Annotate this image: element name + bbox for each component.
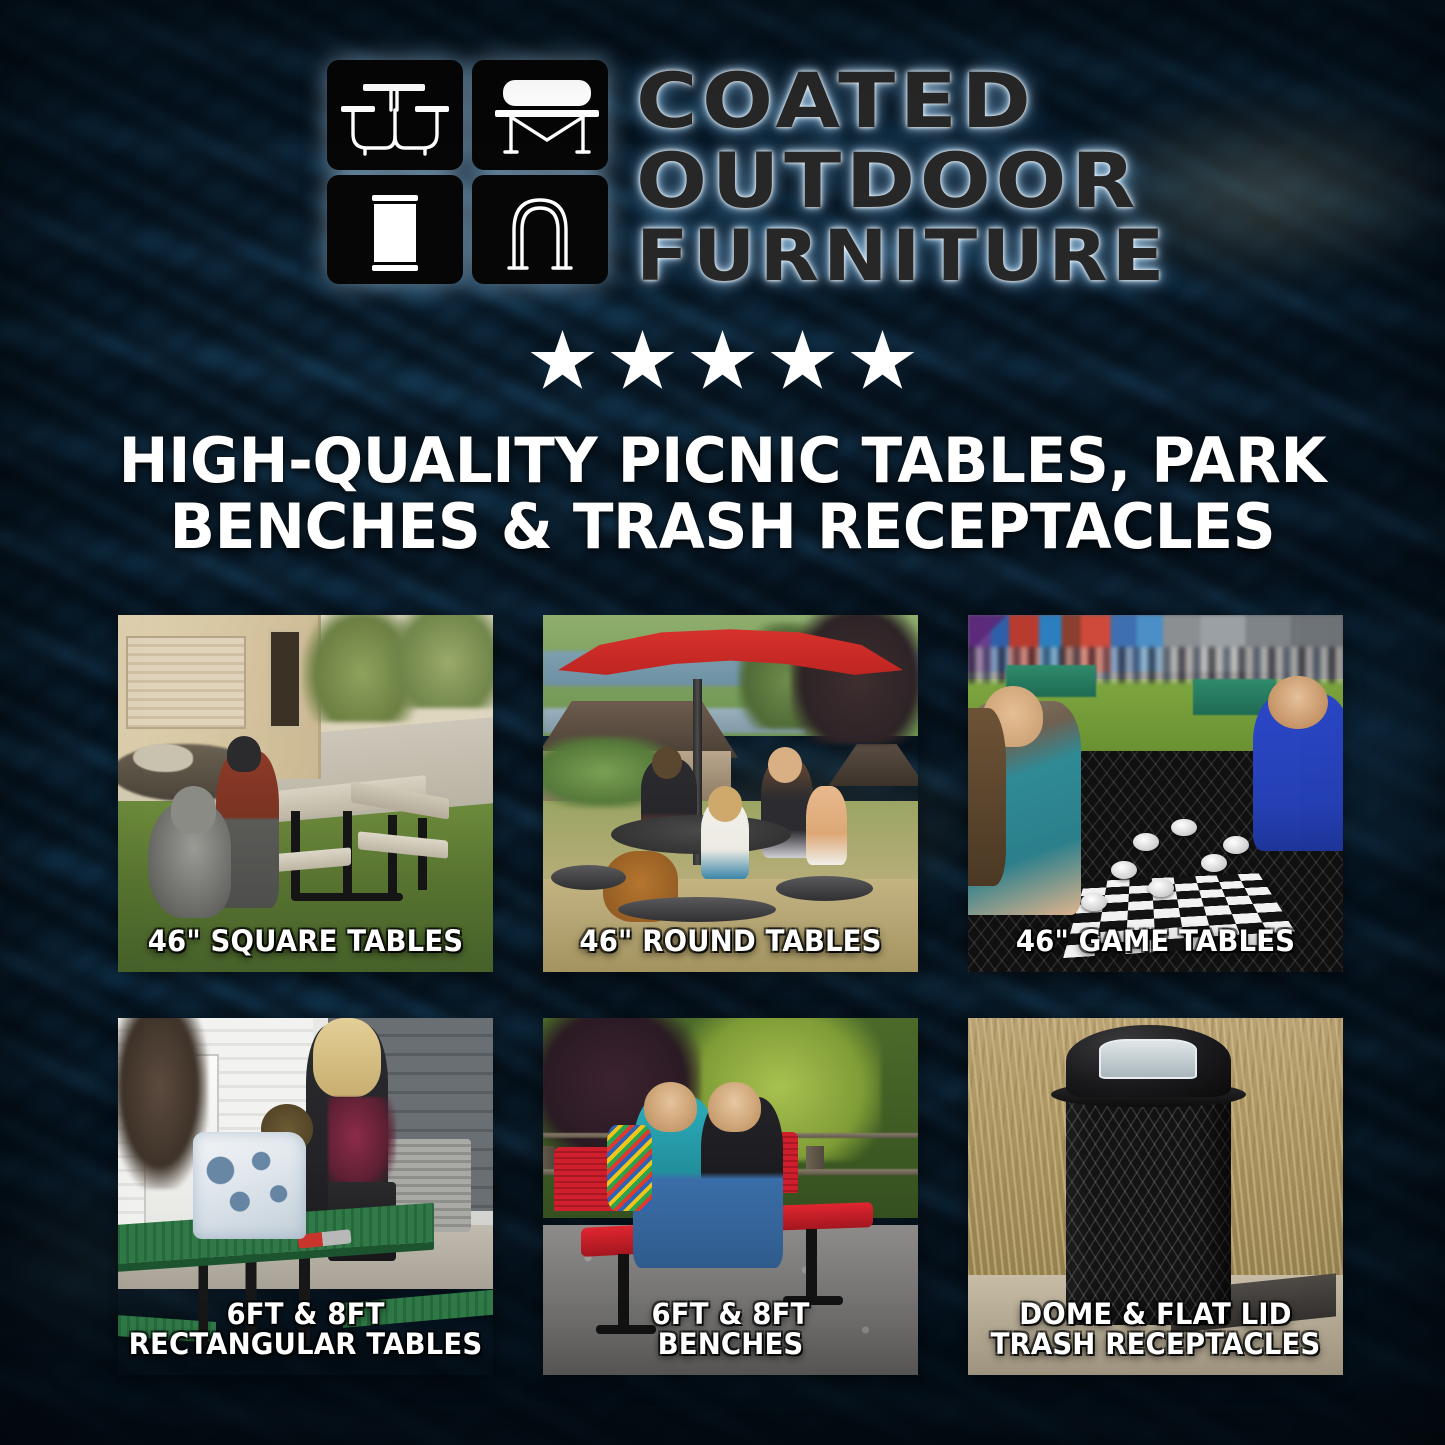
star-icon <box>531 330 595 392</box>
product-tile-trash-receptacles[interactable]: DOME & FLAT LID TRASH RECEPTACLES <box>968 1018 1343 1375</box>
caption-line-2: TRASH RECEPTACLES <box>977 1329 1333 1359</box>
product-tile-round-tables[interactable]: 46" ROUND TABLES <box>543 615 918 972</box>
star-icon <box>771 330 835 392</box>
headline: HIGH-QUALITY PICNIC TABLES, PARK BENCHES… <box>87 428 1359 559</box>
product-caption-round-tables: 46" ROUND TABLES <box>552 926 908 956</box>
caption-line-1: 46" SQUARE TABLES <box>127 926 483 956</box>
product-caption-benches: 6FT & 8FT BENCHES <box>552 1299 908 1359</box>
brand-name-line-3: FURNITURE <box>636 221 1169 292</box>
product-grid: 46" SQUARE TABLES <box>118 615 1328 1375</box>
product-tile-benches[interactable]: 6FT & 8FT BENCHES <box>543 1018 918 1375</box>
product-caption-square-tables: 46" SQUARE TABLES <box>127 926 483 956</box>
brand-name-line-1: COATED <box>636 62 1036 140</box>
product-tile-square-tables[interactable]: 46" SQUARE TABLES <box>118 615 493 972</box>
star-icon <box>611 330 675 392</box>
marketing-poster: COATED OUTDOOR FURNITURE HIGH-QUALITY PI… <box>0 0 1445 1445</box>
brand-logo: COATED OUTDOOR FURNITURE <box>0 58 1445 292</box>
star-icon <box>691 330 755 392</box>
product-tile-game-tables[interactable]: 46" GAME TABLES <box>968 615 1343 972</box>
caption-line-2: RECTANGULAR TABLES <box>127 1329 483 1359</box>
product-photo-game-tables <box>968 615 1343 972</box>
headline-line-1: HIGH-QUALITY PICNIC TABLES, PARK <box>87 428 1359 494</box>
star-rating <box>0 330 1445 392</box>
caption-line-1: 6FT & 8FT <box>127 1299 483 1329</box>
headline-line-2: BENCHES & TRASH RECEPTACLES <box>87 494 1359 560</box>
caption-line-1: 46" ROUND TABLES <box>552 926 908 956</box>
product-photo-square-tables <box>118 615 493 972</box>
logo-icon-grid <box>325 58 610 286</box>
caption-line-1: 46" GAME TABLES <box>977 926 1333 956</box>
product-caption-rectangular-tables: 6FT & 8FT RECTANGULAR TABLES <box>127 1299 483 1359</box>
brand-name-line-2: OUTDOOR <box>636 142 1140 220</box>
star-icon <box>851 330 915 392</box>
caption-line-1: 6FT & 8FT <box>552 1299 908 1329</box>
product-caption-trash-receptacles: DOME & FLAT LID TRASH RECEPTACLES <box>977 1299 1333 1359</box>
product-caption-game-tables: 46" GAME TABLES <box>977 926 1333 956</box>
product-tile-rectangular-tables[interactable]: 6FT & 8FT RECTANGULAR TABLES <box>118 1018 493 1375</box>
caption-line-1: DOME & FLAT LID <box>977 1299 1333 1329</box>
product-photo-round-tables <box>543 615 918 972</box>
caption-line-2: BENCHES <box>552 1329 908 1359</box>
brand-wordmark: COATED OUTDOOR FURNITURE <box>636 58 1120 292</box>
